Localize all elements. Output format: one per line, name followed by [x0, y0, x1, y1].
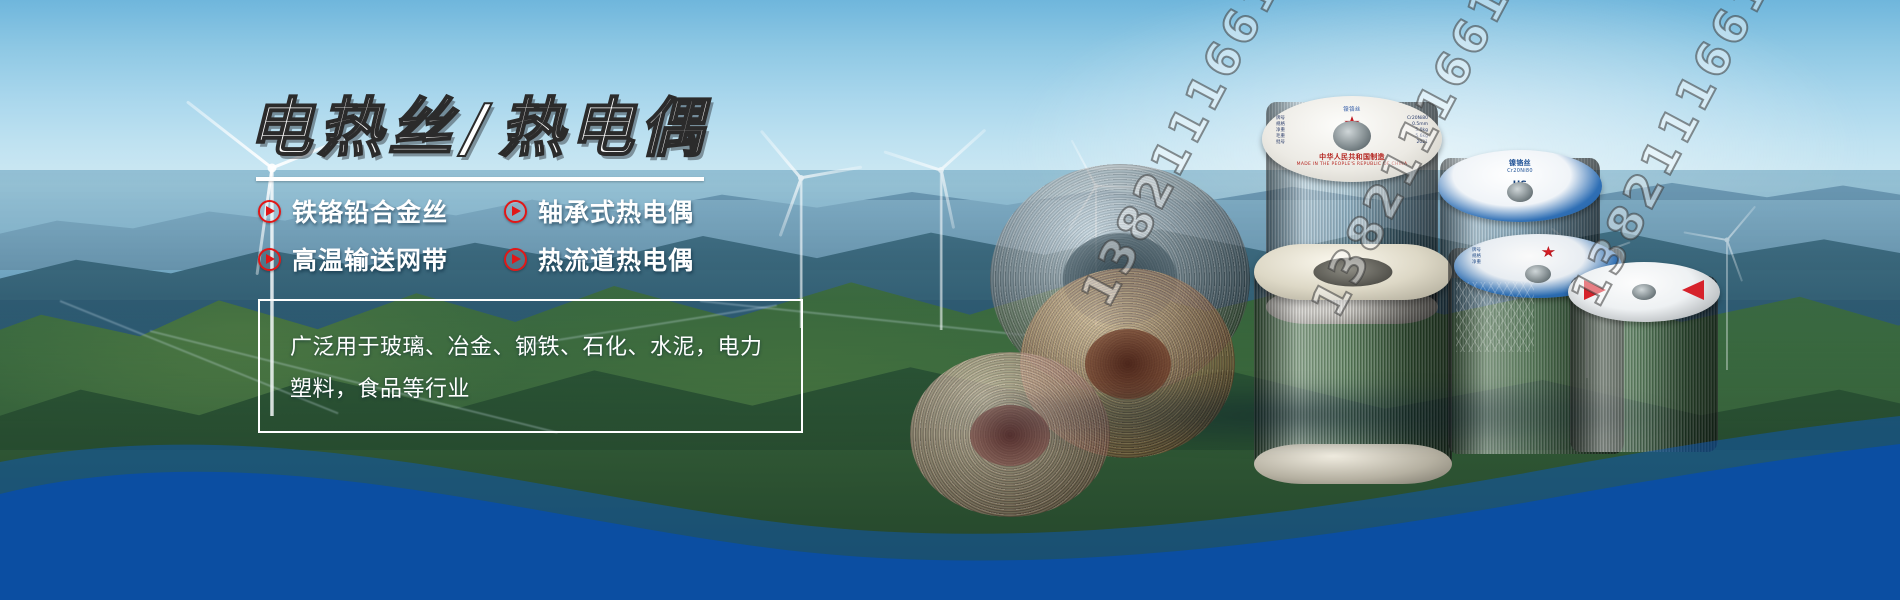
turbine-mast: [1726, 240, 1728, 370]
spool-center-hole: [1632, 284, 1656, 300]
label-country-cn: 中华人民共和国制造: [1262, 152, 1442, 162]
promo-banner: 镍铬丝 牌号规格净重毛重批号 Cr20Ni800.5mm5.0kg5.6kg20…: [0, 0, 1900, 600]
blue-disc-label: 镍铬丝 Cr20Ni80 HS: [1438, 150, 1602, 222]
page-title: 电热丝/热电偶: [248, 96, 948, 163]
spool-top-label: 镍铬丝 牌号规格净重毛重批号 Cr20Ni800.5mm5.0kg5.6kg20…: [1262, 96, 1442, 182]
feature-item: 轴承式热电偶: [504, 193, 736, 229]
blue-label-title: 镍铬丝: [1438, 158, 1602, 168]
banner-content: 电热丝/热电偶 铁铬铅合金丝 轴承式热电偶 高温输送网带 热流道热电偶 广泛用于…: [248, 96, 948, 433]
spool-top-flange: [1254, 244, 1452, 300]
red-arrow-icon: [1682, 280, 1704, 300]
label-spec-text: 牌号规格净重: [1472, 248, 1481, 266]
brand-star-icon: [1541, 246, 1555, 258]
feature-label: 铁铬铅合金丝: [292, 193, 448, 229]
description-line-1: 广泛用于玻璃、冶金、钢铁、石化、水泥，电力: [290, 327, 771, 369]
play-circle-icon: [258, 200, 281, 223]
play-circle-icon: [504, 248, 527, 271]
headline-right: 热电偶: [499, 92, 709, 166]
spool-center-hole: [1525, 265, 1551, 283]
label-spec-text: Cr20Ni800.5mm5.0kg5.6kg2021: [1407, 116, 1428, 146]
feature-label: 热流道热电偶: [538, 241, 694, 277]
description-box: 广泛用于玻璃、冶金、钢铁、石化、水泥，电力 塑料，食品等行业: [258, 299, 803, 433]
blue-label-alloy: Cr20Ni80: [1438, 168, 1602, 174]
feature-item: 高温输送网带: [258, 241, 490, 277]
feature-list: 铁铬铅合金丝 轴承式热电偶 高温输送网带 热流道热电偶: [258, 193, 948, 277]
spool-center-hole: [1507, 182, 1533, 202]
turbine-blade: [1726, 240, 1743, 282]
spool-center-hole: [1333, 121, 1371, 151]
description-line-2: 塑料，食品等行业: [290, 369, 771, 411]
label-header-text: 镍铬丝: [1262, 105, 1442, 113]
play-circle-icon: [504, 200, 527, 223]
feature-item: 铁铬铅合金丝: [258, 193, 490, 229]
play-circle-icon: [258, 248, 281, 271]
label-spec-text: 牌号规格净重毛重批号: [1276, 116, 1285, 146]
headline-separator: /: [458, 92, 499, 166]
spool-center-hole: [1313, 257, 1392, 286]
spool-top-label: [1568, 262, 1720, 322]
headline-left: 电热丝: [248, 92, 458, 166]
title-divider: [256, 177, 704, 181]
feature-item: 热流道热电偶: [504, 241, 736, 277]
feature-label: 轴承式热电偶: [538, 193, 694, 229]
label-country-en: MADE IN THE PEOPLE'S REPUBLIC OF CHINA: [1262, 162, 1442, 167]
mesh-belt-texture: [1456, 282, 1534, 352]
feature-label: 高温输送网带: [292, 241, 448, 277]
red-arrow-icon: [1584, 280, 1606, 300]
